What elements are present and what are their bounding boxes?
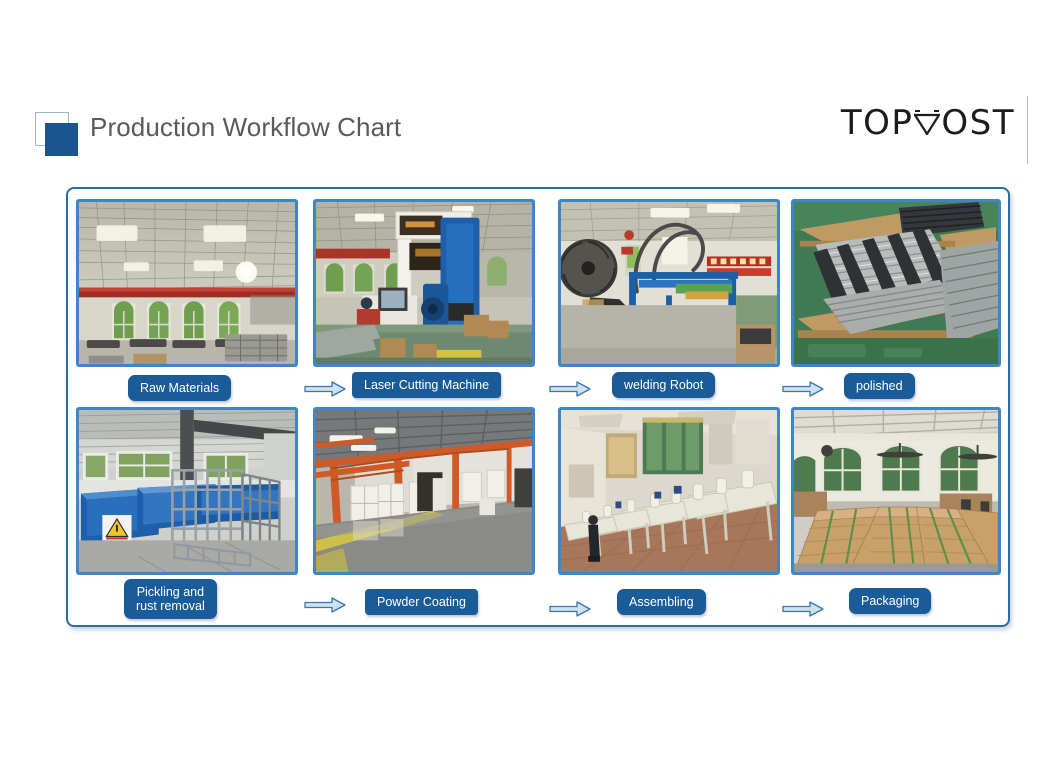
workflow-row-2: Pickling and rust removal bbox=[68, 403, 1012, 613]
double-square-icon-filled bbox=[45, 123, 78, 156]
workflow-step-packaging[interactable]: Packaging bbox=[791, 403, 1013, 611]
step-label-raw-materials: Raw Materials bbox=[128, 375, 231, 401]
photo-raw-materials bbox=[76, 199, 298, 367]
brand-divider bbox=[1027, 96, 1028, 164]
photo-assembling bbox=[558, 407, 780, 575]
brand-stylized-m-icon bbox=[914, 108, 940, 134]
step-label-polished: polished bbox=[844, 373, 915, 399]
brand-text-ost: OST bbox=[941, 103, 1015, 143]
page-title: Production Workflow Chart bbox=[90, 112, 401, 143]
brand-text-top: TOP bbox=[841, 103, 914, 143]
brand-wordmark: TOPOST bbox=[841, 103, 1015, 143]
step-label-laser-cutting-machine: Laser Cutting Machine bbox=[352, 372, 501, 398]
workflow-step-laser-cutting-machine[interactable]: Laser Cutting Machine bbox=[313, 195, 535, 403]
step-label-powder-coating: Powder Coating bbox=[365, 589, 478, 615]
photo-pickling-and-rust-removal bbox=[76, 407, 298, 575]
step-label-packaging: Packaging bbox=[849, 588, 931, 614]
workflow-step-pickling-and-rust-removal[interactable]: Pickling and rust removal bbox=[76, 403, 298, 611]
photo-welding-robot bbox=[558, 199, 780, 367]
topmost-logo: TOPOST bbox=[841, 102, 1015, 144]
workflow-row-1: Raw Materials bbox=[68, 195, 1012, 405]
workflow-step-raw-materials[interactable]: Raw Materials bbox=[76, 195, 298, 403]
photo-powder-coating bbox=[313, 407, 535, 575]
photo-laser-cutting-machine bbox=[313, 199, 535, 367]
step-label-welding-robot: welding Robot bbox=[612, 372, 715, 398]
page-header: Production Workflow Chart TOPOST bbox=[0, 0, 1060, 178]
step-label-pickling-and-rust-removal: Pickling and rust removal bbox=[124, 579, 217, 619]
workflow-container: Raw Materials bbox=[66, 187, 1010, 627]
step-label-assembling: Assembling bbox=[617, 589, 706, 615]
photo-polished bbox=[791, 199, 1001, 367]
workflow-step-powder-coating[interactable]: Powder Coating bbox=[313, 403, 535, 611]
photo-packaging bbox=[791, 407, 1001, 575]
workflow-step-polished[interactable]: polished bbox=[791, 195, 1013, 403]
workflow-step-welding-robot[interactable]: welding Robot bbox=[558, 195, 780, 403]
workflow-step-assembling[interactable]: Assembling bbox=[558, 403, 780, 611]
